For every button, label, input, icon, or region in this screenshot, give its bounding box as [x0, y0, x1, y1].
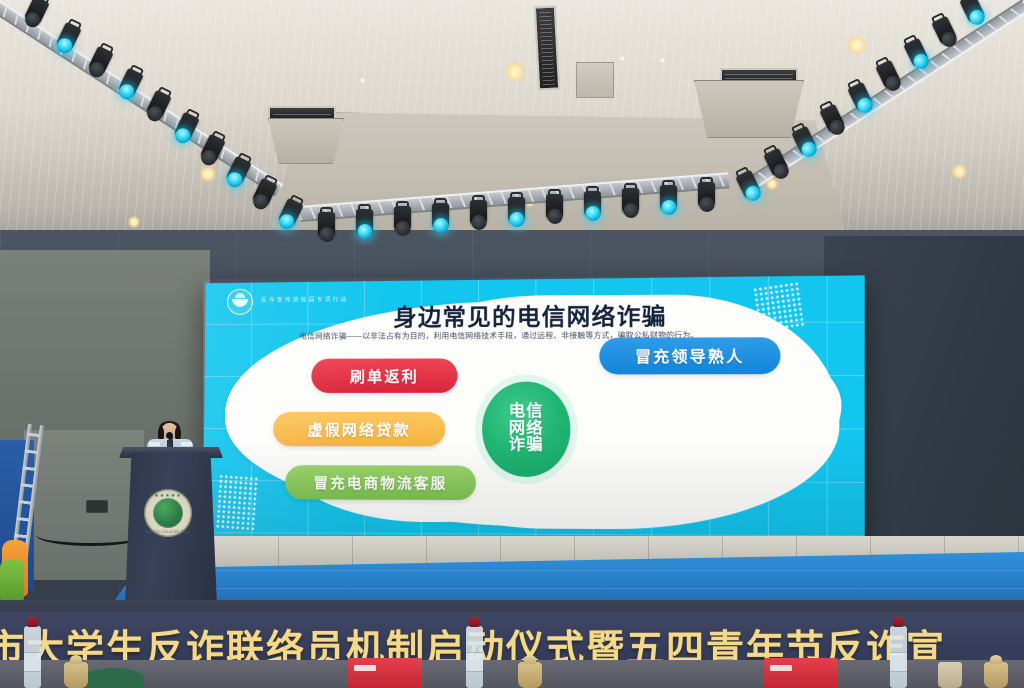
green-plant: [84, 668, 144, 688]
downlight-6: [128, 216, 140, 228]
par-light: [394, 206, 411, 232]
ceiling-duct-right: [694, 80, 804, 138]
downlight-3: [848, 36, 866, 54]
vent-slot-texture: [273, 111, 331, 115]
microphone-head: [166, 432, 173, 439]
water-bottle: [466, 626, 483, 688]
par-light: [622, 188, 639, 214]
conference-hall-scene: 反诈宣传进校园专项行动 身边常见的电信网络诈骗 电信网络诈骗——以非法占有为目的…: [0, 0, 1024, 688]
downlight-1: [200, 166, 216, 182]
paper-cup: [938, 662, 962, 688]
vent-slot-texture: [725, 73, 793, 79]
speaker-epaulette-right: [181, 442, 192, 446]
ceiling-air-vent-left: [268, 106, 336, 120]
carpet-seam: [96, 570, 1024, 571]
led-screen[interactable]: 反诈宣传进校园专项行动 身边常见的电信网络诈骗 电信网络诈骗——以非法占有为目的…: [203, 275, 865, 544]
par-light: [698, 182, 715, 208]
indicator-light-1: [620, 56, 625, 61]
par-light: [432, 203, 449, 229]
carpet-seam: [96, 588, 1024, 589]
par-light: [470, 200, 487, 226]
paper-cup: [518, 662, 542, 688]
seal-ring-text: POLICE COLLEGE SEAL: [144, 530, 192, 534]
downlight-4: [952, 164, 967, 179]
par-light: [508, 197, 525, 223]
center-node-line-1: 电信: [509, 403, 544, 420]
indicator-light-2: [660, 58, 665, 63]
university-globe-seal: ★★★★★ POLICE COLLEGE SEAL: [144, 489, 192, 537]
speaker-epaulette-left: [149, 442, 160, 446]
downlight-2: [506, 62, 524, 82]
par-light: [660, 185, 677, 211]
indicator-light-3: [360, 78, 365, 83]
fraud-type-maochong-lingdao-shuren: 冒充领导熟人: [599, 337, 780, 374]
par-light: [318, 212, 335, 238]
fraud-type-maochong-dianshang-wuliu-kefu: 冒充电商物流客服: [285, 465, 476, 500]
paper-cup: [984, 662, 1008, 688]
head-table: [0, 660, 1024, 688]
green-equipment: [0, 560, 24, 600]
dot-matrix-decoration-bottom-left: [215, 474, 259, 531]
paper-cup: [64, 662, 88, 688]
presentation-slide: 反诈宣传进校园专项行动 身边常见的电信网络诈骗 电信网络诈骗——以非法占有为目的…: [203, 275, 865, 544]
par-light: [356, 209, 373, 235]
vent-slot-texture: [539, 11, 555, 86]
par-light: [584, 191, 601, 217]
ceiling-hatch: [576, 62, 614, 98]
red-promo-box: [764, 658, 838, 688]
fraud-type-shuadan-fanli: 刷单返利: [311, 358, 457, 392]
ceiling: [0, 0, 1024, 268]
ceiling-duct-left: [268, 118, 344, 164]
par-light: [546, 194, 563, 220]
ceiling-air-vent-center: [534, 5, 560, 90]
slide-title: 身边常见的电信网络诈骗: [203, 296, 865, 333]
wall-socket: [86, 500, 108, 513]
slide-center-node: 电信 网络 诈骗: [482, 382, 570, 477]
seal-globe-icon: [153, 498, 183, 528]
fraud-type-xujia-wangluo-daikuan: 虚假网络贷款: [273, 412, 445, 446]
red-promo-box: [348, 658, 422, 688]
water-bottle: [890, 626, 907, 688]
water-bottle: [24, 626, 41, 688]
center-node-line-2: 网络: [509, 421, 544, 438]
center-node-line-3: 诈骗: [509, 438, 544, 455]
